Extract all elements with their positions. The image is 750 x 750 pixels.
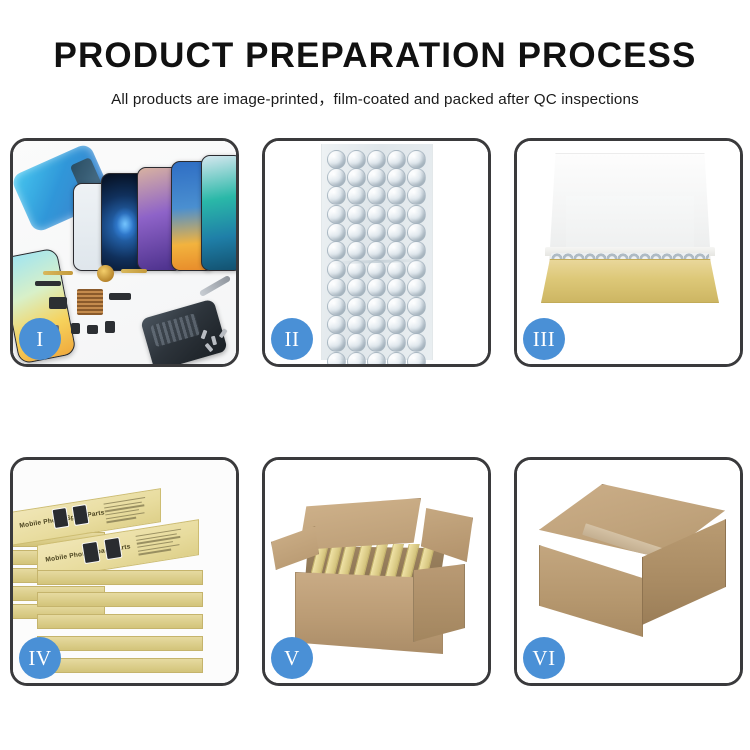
product-preparation-infographic: PRODUCT PREPARATION PROCESS All products… (0, 0, 750, 750)
connector-icon (109, 293, 131, 300)
page-title: PRODUCT PREPARATION PROCESS (0, 36, 750, 76)
bubble (387, 278, 406, 297)
bubble (327, 278, 346, 297)
bubble (387, 333, 406, 352)
bubble (327, 168, 346, 187)
bubble (367, 352, 386, 364)
bubble (347, 223, 366, 242)
flex-cable-icon (43, 271, 73, 275)
bubble (407, 205, 426, 224)
bubble (347, 352, 366, 364)
bubble (387, 297, 406, 316)
bubble (347, 278, 366, 297)
phone-display-teal-icon (201, 155, 236, 271)
bubble (407, 278, 426, 297)
bubble (387, 205, 406, 224)
bubble (407, 150, 426, 169)
bubble (327, 333, 346, 352)
camera-module-icon (49, 297, 67, 309)
bubble (367, 333, 386, 352)
small-component-icon (71, 323, 80, 334)
bubble (407, 223, 426, 242)
process-step-grid: I II III (10, 138, 743, 698)
bubble (367, 186, 386, 205)
page-subtitle: All products are image-printed，film-coat… (0, 87, 750, 109)
bubble (407, 333, 426, 352)
phone-screen-print (72, 504, 90, 526)
phone-screen-print (52, 507, 70, 529)
bubble (387, 223, 406, 242)
phone-screen-print (103, 537, 122, 560)
bubble (367, 241, 386, 260)
bubble (367, 223, 386, 242)
bubble (387, 186, 406, 205)
bubble-field (328, 150, 428, 354)
process-step-1: I (10, 138, 239, 367)
process-step-5: V (262, 457, 491, 686)
process-step-4: Mobile Phone Spare Parts Mobile Phone Sp… (10, 457, 239, 686)
header: PRODUCT PREPARATION PROCESS All products… (0, 0, 750, 109)
bubble (367, 297, 386, 316)
bubble (387, 150, 406, 169)
process-step-2: II (262, 138, 491, 367)
bubble (327, 205, 346, 224)
bubble (387, 241, 406, 260)
process-step-3: III (514, 138, 743, 367)
kraft-box-body-icon (541, 259, 719, 303)
box-edge (37, 570, 203, 585)
bubble (407, 186, 426, 205)
bubble (367, 315, 386, 334)
bubble (407, 260, 426, 279)
bubble (327, 241, 346, 260)
box-edge (37, 636, 203, 651)
step-number-badge: IV (19, 637, 61, 679)
box-edge (37, 592, 203, 607)
copper-coil-icon (97, 265, 114, 282)
step-number-badge: II (271, 318, 313, 360)
bubble (367, 278, 386, 297)
step-number-badge: I (19, 318, 61, 360)
bubble (407, 241, 426, 260)
speaker-mesh-icon (35, 281, 61, 286)
step-number-badge: III (523, 318, 565, 360)
bubble (407, 297, 426, 316)
bubble (347, 333, 366, 352)
screw-set-icon (200, 328, 230, 354)
bubble (407, 315, 426, 334)
bubble (347, 186, 366, 205)
phone-screen-print (81, 541, 100, 564)
bubble (347, 297, 366, 316)
bubble (327, 150, 346, 169)
bubble (327, 352, 346, 364)
process-step-6: VI (514, 457, 743, 686)
bubble (367, 205, 386, 224)
bubble (327, 315, 346, 334)
bubble (327, 297, 346, 316)
chip-array-icon (77, 289, 103, 315)
bubble (347, 168, 366, 187)
phone-display-fan (71, 153, 231, 271)
bubble (387, 352, 406, 364)
bubble (327, 223, 346, 242)
bubble (367, 168, 386, 187)
bubble (367, 150, 386, 169)
bubble (407, 352, 426, 364)
battery-connector-icon (105, 321, 115, 333)
bubble (327, 186, 346, 205)
small-component-icon (87, 325, 98, 334)
box-edge (37, 614, 203, 629)
bubble (407, 168, 426, 187)
bubble (387, 168, 406, 187)
bubble-wrap-icon (321, 144, 433, 360)
bubble (387, 315, 406, 334)
step-number-badge: VI (523, 637, 565, 679)
box-edge (37, 658, 203, 673)
bubble (347, 241, 366, 260)
step-number-badge: V (271, 637, 313, 679)
flex-cable-icon (121, 269, 147, 273)
bubble (347, 315, 366, 334)
bubble (347, 205, 366, 224)
bubble (347, 150, 366, 169)
